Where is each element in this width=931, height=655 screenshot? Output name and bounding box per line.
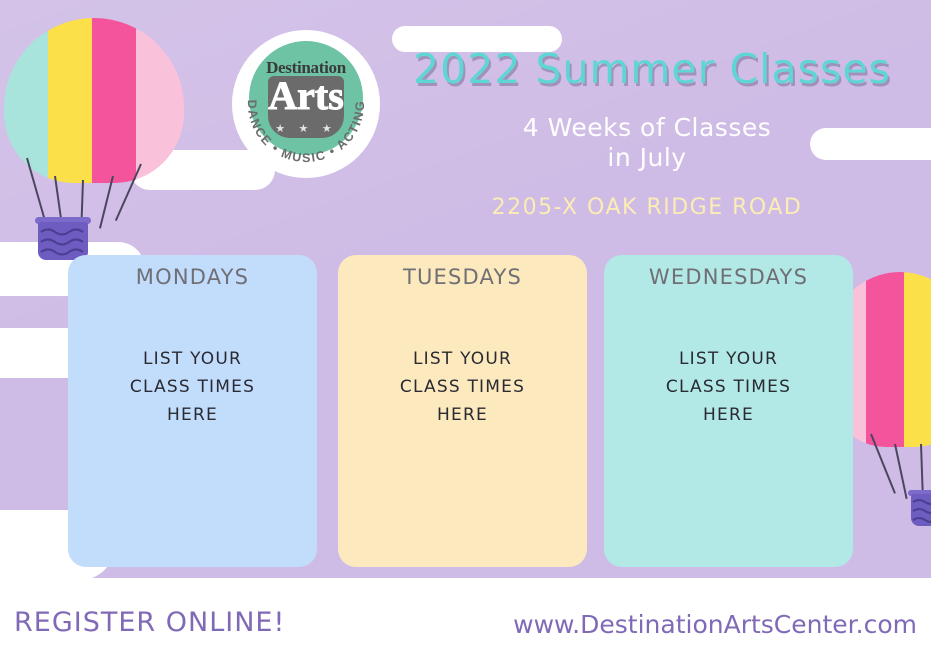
website-url[interactable]: www.DestinationArtsCenter.com — [513, 610, 917, 639]
hot-air-balloon-left — [4, 18, 204, 248]
day-card-tuesdays[interactable]: TUESDAYS LIST YOUR CLASS TIMES HERE — [338, 255, 587, 567]
summer-classes-poster: Destination Arts ★ ★ ★ DANCE • MUSIC • A… — [0, 0, 931, 655]
day-card-body-line-2: CLASS TIMES — [604, 373, 853, 401]
subtitle-line-1: 4 Weeks of Classes — [392, 113, 902, 143]
svg-text:DANCE • MUSIC • ACTING: DANCE • MUSIC • ACTING — [245, 100, 367, 166]
day-card-body-line-1: LIST YOUR — [604, 345, 853, 373]
balloon-rope — [99, 176, 114, 229]
day-card-title: MONDAYS — [68, 265, 317, 289]
day-card-body-line-1: LIST YOUR — [68, 345, 317, 373]
day-card-title: TUESDAYS — [338, 265, 587, 289]
day-card-body-line-1: LIST YOUR — [338, 345, 587, 373]
balloon-envelope-left — [4, 18, 184, 183]
day-card-body-line-2: CLASS TIMES — [68, 373, 317, 401]
balloon-basket — [911, 494, 931, 526]
subtitle-line-2: in July — [392, 143, 902, 173]
day-card-wednesdays[interactable]: WEDNESDAYS LIST YOUR CLASS TIMES HERE — [604, 255, 853, 567]
day-card-body-line-3: HERE — [68, 401, 317, 429]
balloon-basket — [38, 222, 88, 260]
balloon-rope — [894, 444, 908, 499]
logo-arc-text: DANCE • MUSIC • ACTING — [232, 30, 380, 178]
day-card-body-line-2: CLASS TIMES — [338, 373, 587, 401]
day-card-body: LIST YOUR CLASS TIMES HERE — [68, 345, 317, 429]
day-card-body: LIST YOUR CLASS TIMES HERE — [604, 345, 853, 429]
day-card-mondays[interactable]: MONDAYS LIST YOUR CLASS TIMES HERE — [68, 255, 317, 567]
day-card-body-line-3: HERE — [604, 401, 853, 429]
day-card-body-line-3: HERE — [338, 401, 587, 429]
day-card-body: LIST YOUR CLASS TIMES HERE — [338, 345, 587, 429]
address-text: 2205-X OAK RIDGE ROAD — [392, 195, 902, 220]
register-online-text[interactable]: REGISTER ONLINE! — [14, 607, 285, 638]
day-card-title: WEDNESDAYS — [604, 265, 853, 289]
subtitle: 4 Weeks of Classes in July — [392, 113, 902, 173]
destination-arts-logo: Destination Arts ★ ★ ★ DANCE • MUSIC • A… — [232, 30, 380, 178]
page-title: 2022 Summer Classes — [392, 45, 912, 93]
